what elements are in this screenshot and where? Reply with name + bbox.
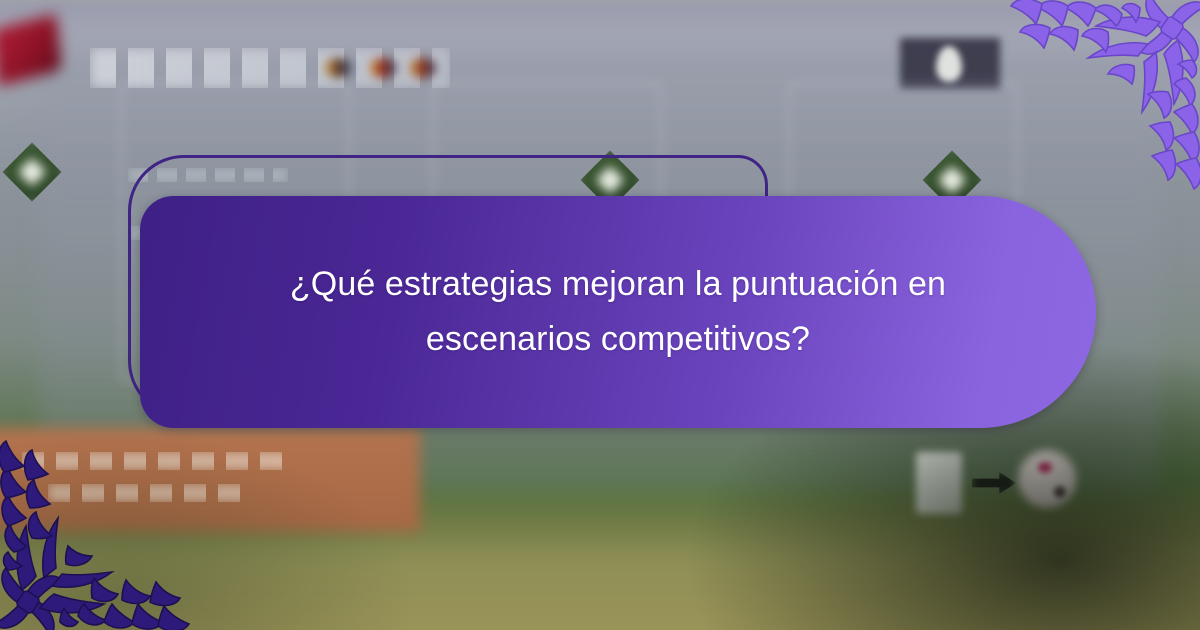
question-card: ¿Qué estrategias mejoran la puntuación e… (140, 196, 1096, 428)
question-text: ¿Qué estrategias mejoran la puntuación e… (238, 257, 998, 367)
